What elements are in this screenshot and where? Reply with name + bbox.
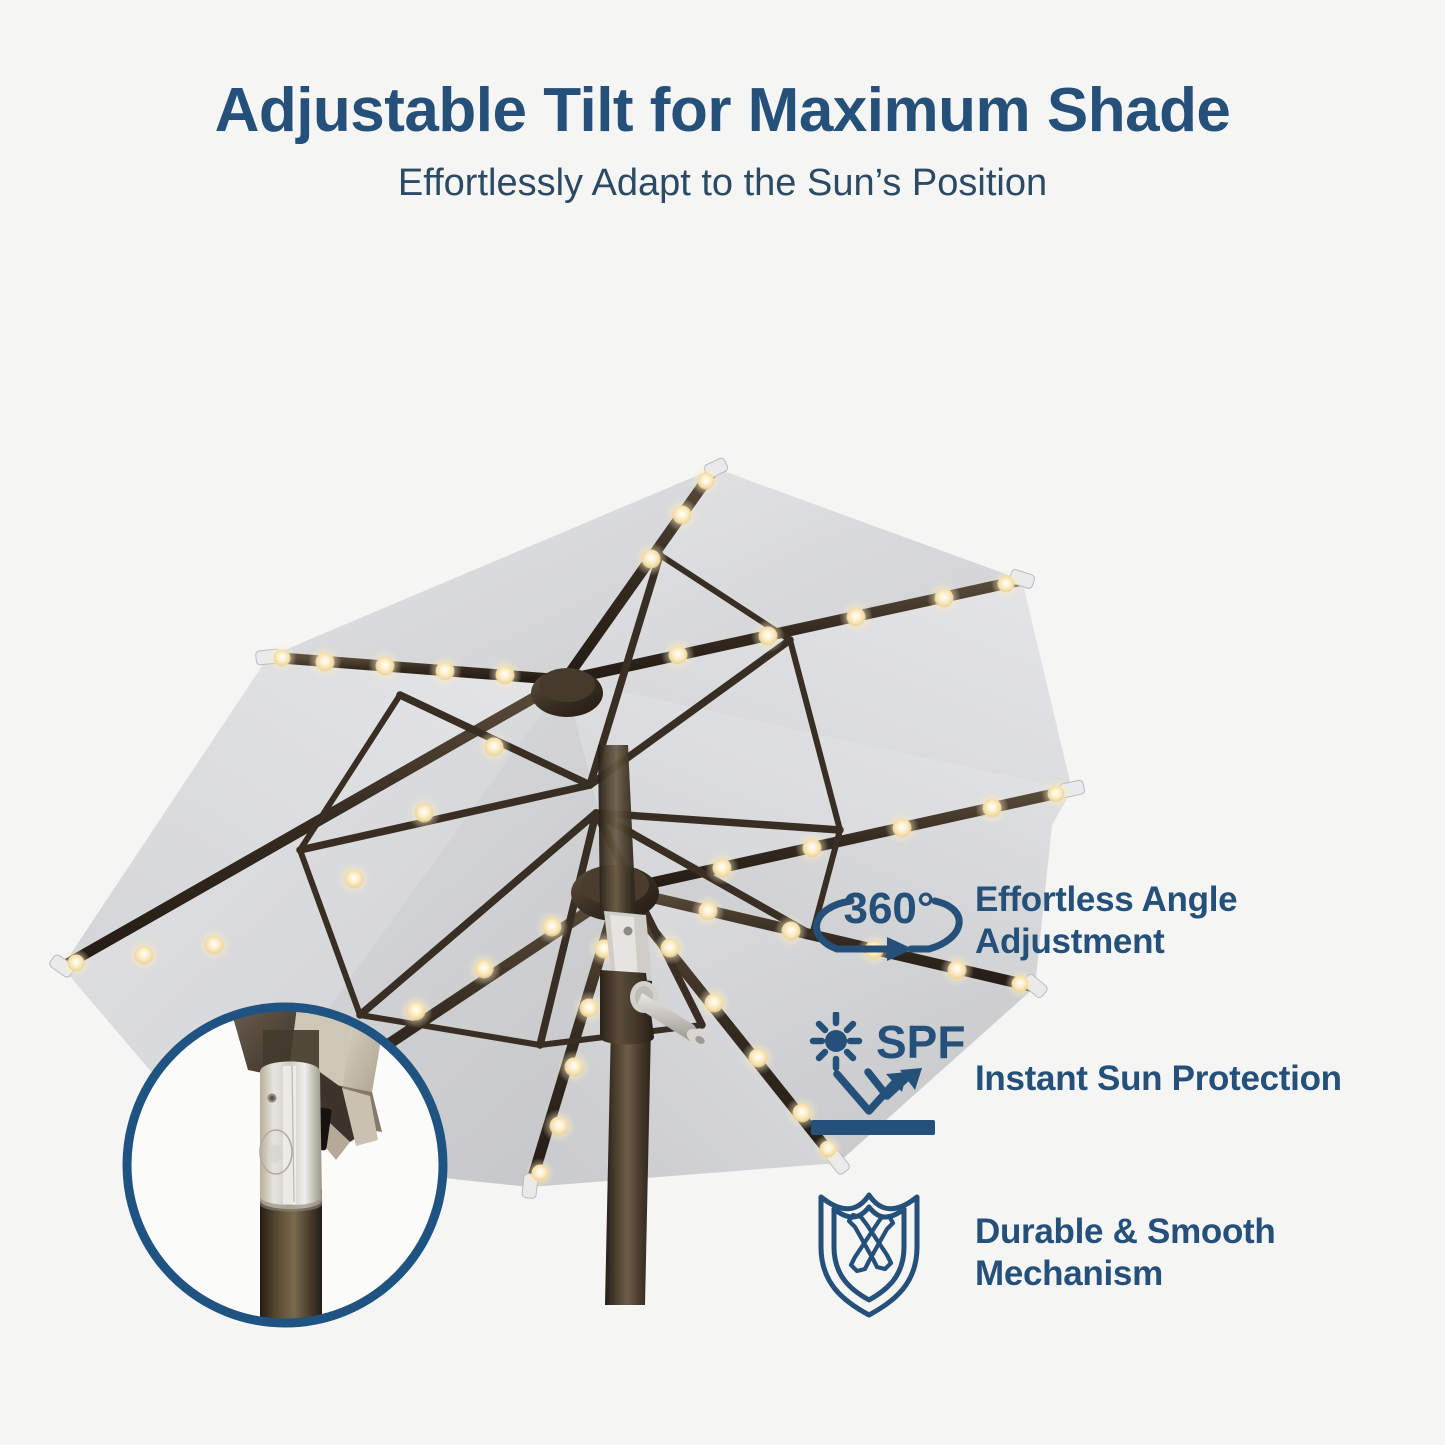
feature-label-durable-line2: Mechanism	[975, 1253, 1440, 1295]
feature-list: 360° Effortless Angle Adjustment	[800, 862, 1440, 1352]
feature-item-durable-mechanism: Durable & Smooth Mechanism	[800, 1178, 1440, 1328]
feature-label-durable-line1: Durable & Smooth	[975, 1211, 1440, 1253]
feature-label-angle-line1: Effortless Angle	[975, 879, 1440, 921]
spf-label: SPF	[876, 1016, 965, 1068]
page-subtitle: Effortlessly Adapt to the Sun’s Position	[0, 143, 1445, 205]
header: Adjustable Tilt for Maximum Shade Effort…	[0, 0, 1445, 205]
feature-label-durable: Durable & Smooth Mechanism	[975, 1211, 1440, 1295]
product-infographic-page: { "header": { "title": "Adjustable Tilt …	[0, 0, 1445, 1445]
360-degree-label: 360°	[843, 884, 934, 933]
feature-label-angle: Effortless Angle Adjustment	[975, 879, 1440, 963]
tilt-mechanism-detail-inset	[120, 1000, 450, 1330]
feature-label-spf-line1: Instant Sun Protection	[975, 1058, 1440, 1100]
page-title: Adjustable Tilt for Maximum Shade	[0, 0, 1445, 143]
spf-sun-protection-icon: SPF	[800, 1012, 975, 1147]
360-degree-rotation-icon: 360°	[800, 871, 975, 971]
feature-label-spf: Instant Sun Protection	[975, 1058, 1440, 1100]
feature-item-sun-protection: SPF Instant Sun Protection	[800, 1004, 1440, 1154]
feature-label-angle-line2: Adjustment	[975, 921, 1440, 963]
spf-surface-bar	[811, 1120, 935, 1135]
feature-item-angle-adjustment: 360° Effortless Angle Adjustment	[800, 862, 1440, 980]
shield-wrenches-icon	[800, 1183, 975, 1323]
